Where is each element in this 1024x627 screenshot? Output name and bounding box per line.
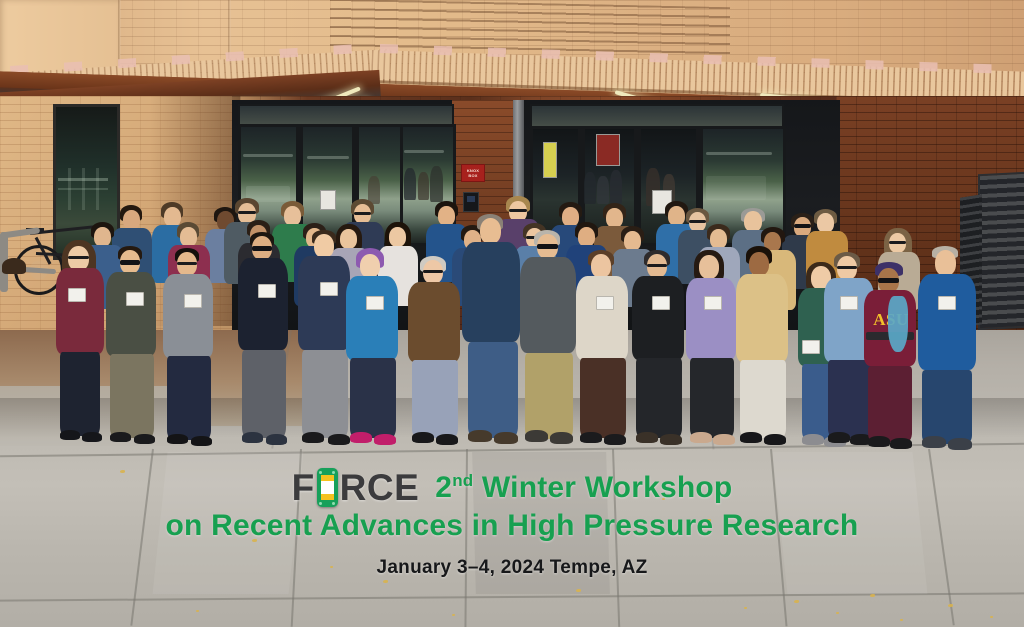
reflected-figure bbox=[597, 176, 609, 204]
window-reflection bbox=[96, 168, 99, 210]
workshop-title-rest: Winter Workshop bbox=[482, 471, 733, 504]
dac-screw bbox=[332, 471, 335, 474]
window-reflection bbox=[82, 168, 85, 210]
glass-reflection bbox=[243, 154, 293, 157]
tote-bag bbox=[888, 296, 908, 352]
fallen-leaf bbox=[836, 612, 839, 614]
window-reflection bbox=[68, 168, 71, 210]
fallen-leaf bbox=[990, 616, 993, 618]
door-mullion bbox=[634, 126, 639, 240]
reflected-figure bbox=[610, 170, 622, 204]
diamond-anvil-cell-icon bbox=[317, 468, 338, 507]
workshop-date-location: January 3–4, 2024 Tempe, AZ bbox=[0, 556, 1024, 580]
ordinal-suffix: nd bbox=[452, 471, 473, 490]
glass-reflection bbox=[404, 150, 444, 153]
reflected-figure bbox=[418, 172, 429, 200]
louver-vent-panel bbox=[978, 172, 1024, 331]
fallen-leaf bbox=[576, 589, 581, 592]
fallen-leaf bbox=[383, 580, 388, 583]
dac-screw bbox=[332, 502, 335, 505]
knox-box-line2: BOX bbox=[468, 173, 477, 178]
dac-screw bbox=[319, 502, 322, 505]
door-notice-sign bbox=[320, 190, 336, 210]
reflected-figure bbox=[368, 176, 380, 204]
fallen-leaf bbox=[948, 604, 953, 607]
fallen-leaf bbox=[744, 607, 747, 609]
card-reader bbox=[463, 192, 479, 212]
door-poster bbox=[596, 134, 620, 166]
fallen-leaf bbox=[870, 594, 875, 597]
dac-anvil-bottom bbox=[321, 494, 334, 500]
conference-group-photo-poster: KNOX BOX bbox=[0, 0, 1024, 627]
dac-screw bbox=[319, 471, 322, 474]
glass-reflection bbox=[706, 152, 772, 155]
dac-anvil-top bbox=[321, 475, 334, 481]
fallen-leaf bbox=[196, 610, 199, 612]
fallen-leaf bbox=[794, 600, 799, 603]
glass-reflection bbox=[706, 176, 766, 200]
workshop-title-line-2: on Recent Advances in High Pressure Rese… bbox=[0, 508, 1024, 544]
glass-reflection bbox=[307, 156, 349, 159]
caption-line-1: F RCE 2nd Winter Workshop bbox=[0, 468, 1024, 507]
reflected-figure bbox=[430, 166, 443, 202]
ordinal-number: 2 bbox=[435, 471, 452, 504]
knox-box-sign: KNOX BOX bbox=[461, 164, 485, 182]
reflected-figure bbox=[584, 172, 596, 204]
force-logo-wordmark: F RCE bbox=[292, 468, 420, 507]
force-logo-suffix: RCE bbox=[340, 469, 420, 506]
workshop-title-line-1: 2nd Winter Workshop bbox=[435, 471, 732, 505]
reflected-figure bbox=[404, 168, 416, 200]
door-poster bbox=[543, 142, 557, 178]
fallen-leaf bbox=[452, 614, 455, 616]
fallen-leaf bbox=[900, 619, 903, 621]
force-logo-prefix: F bbox=[292, 469, 315, 506]
